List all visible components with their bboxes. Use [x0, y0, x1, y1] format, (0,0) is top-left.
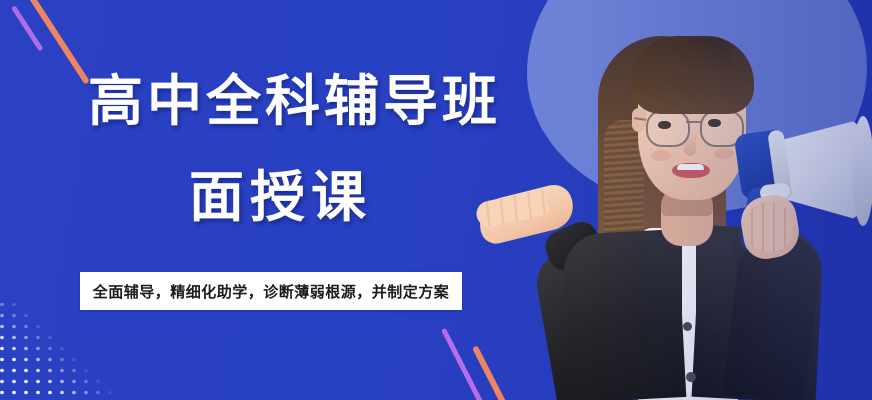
blazer-button-upper — [683, 322, 692, 331]
teeth — [677, 164, 704, 170]
subline-banner: 全面辅导，精细化助学，诊断薄弱根源，并制定方案 — [80, 272, 462, 310]
headline-line-2: 面授课 — [189, 170, 372, 225]
cheek-left — [651, 150, 671, 161]
blazer-button-lower — [686, 372, 696, 382]
glasses-lens-left — [646, 110, 690, 147]
subline-text: 全面辅导，精细化助学，诊断薄弱根源，并制定方案 — [93, 281, 450, 302]
copy-block: 高中全科辅导班 面授课 全面辅导，精细化助学，诊断薄弱根源，并制定方案 — [0, 0, 520, 400]
promo-banner: 高中全科辅导班 面授课 全面辅导，精细化助学，诊断薄弱根源，并制定方案 — [0, 0, 872, 400]
glasses-bridge — [686, 121, 702, 123]
presenter-figure — [520, 0, 872, 400]
megaphone-rim — [852, 116, 872, 226]
headline-line-1: 高中全科辅导班 — [88, 74, 501, 129]
